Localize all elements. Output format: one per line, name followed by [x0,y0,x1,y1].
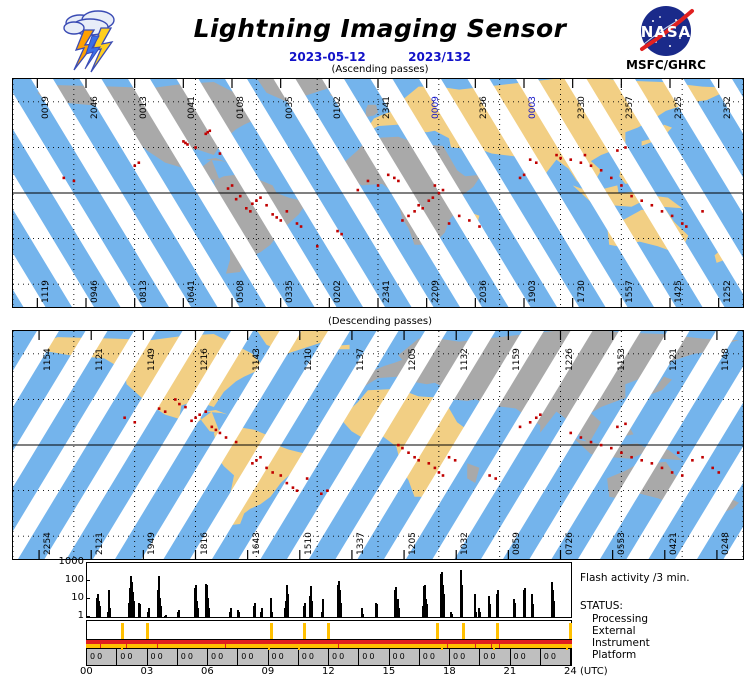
platform-segment: 00 [87,649,117,665]
asc-orbit-bottom-label-9: 2036 [479,280,489,303]
desc-orbit-top-label-3: 1216 [200,348,210,371]
desc-orbit-bottom-label-3: 1816 [200,532,210,555]
asc-orbit-top-label-1: 2046 [90,96,100,119]
flash-bar [178,610,180,617]
desc-orbit-bottom-label-8: 1032 [460,532,470,555]
status-platform-tick [298,645,300,650]
flash-activity-chart[interactable] [86,562,572,618]
asc-orbit-bottom-label-14: 1252 [723,280,733,303]
desc-orbit-bottom-label-1: 2121 [95,532,105,555]
status-processing-tick [146,623,149,639]
asc-orbit-bottom-label-6: 0202 [333,280,343,303]
time-axis-label-24: 24 [564,666,577,677]
status-processing-row [86,620,572,640]
ascending-caption: (Ascending passes) [170,64,590,75]
asc-orbit-top-label-7: 2341 [382,96,392,119]
flash-chart-ytick-10: 10 [44,592,84,603]
status-platform-tick [441,645,443,650]
flash-bar [443,594,445,617]
chart-legend: Flash activity /3 min. STATUS: Processin… [578,562,756,674]
desc-orbit-bottom-label-0: 2254 [43,532,53,555]
platform-segment: 00 [329,649,359,665]
time-axis-label-09: 09 [262,666,275,677]
desc-orbit-top-label-10: 1226 [565,348,575,371]
flash-bar [553,601,555,617]
platform-segment: 00 [359,649,389,665]
flash-bar [497,590,499,617]
platform-segment: 00 [511,649,541,665]
platform-segment: 00 [450,649,480,665]
flash-bar [133,601,135,617]
platform-segment: 00 [238,649,268,665]
asc-orbit-top-label-11: 2330 [577,96,587,119]
activity-panel: 1000100101 00000000000000000000000000000… [0,562,756,680]
flash-chart-ytick-1000: 1000 [44,556,84,567]
flash-bar [362,614,364,617]
status-processing-tick [462,623,465,639]
legend-item-processing: Processing [580,613,648,625]
status-platform-tick [566,645,568,650]
status-processing-tick [496,623,499,639]
platform-segment: 00 [117,649,147,665]
flash-bar [524,588,526,617]
desc-orbit-top-label-7: 1205 [408,348,418,371]
time-axis: 000306091215182124(UTC) [60,666,600,680]
flash-bar [261,608,263,617]
flash-chart-y-axis: 1000100101 [40,562,84,618]
legend-item-instrument: Instrument [580,637,650,649]
legend-status-title: STATUS: [580,600,623,612]
flash-bar [479,612,481,617]
flash-bar [238,612,240,617]
status-platform-tick [268,645,270,650]
status-processing-tick [121,623,124,639]
time-axis-label-18: 18 [443,666,456,677]
flash-bar [451,614,453,617]
page-title: Lightning Imaging Sensor [170,14,590,43]
flash-bar [475,612,477,617]
desc-orbit-top-label-0: 1154 [43,348,53,371]
desc-orbit-bottom-label-9: 0859 [512,532,522,555]
asc-orbit-top-label-8: 0009 [431,96,441,119]
status-platform-segments: 00000000000000000000000000000000 [86,648,572,666]
flash-bar [304,603,306,617]
descending-caption: (Descending passes) [170,316,590,327]
desc-orbit-bottom-label-2: 1949 [147,532,157,555]
desc-orbit-top-label-4: 1143 [252,348,262,371]
asc-orbit-bottom-label-7: 2341 [382,280,392,303]
asc-orbit-top-label-4: 0108 [236,96,246,119]
flash-bar [322,599,324,617]
desc-orbit-top-label-6: 1137 [356,348,366,371]
desc-orbit-bottom-label-6: 1337 [356,532,366,555]
flash-bar [148,608,150,617]
flash-bar [514,603,516,617]
desc-orbit-top-label-13: 1148 [721,348,731,371]
time-axis-label-03: 03 [141,666,154,677]
time-axis-label-15: 15 [383,666,396,677]
platform-segment: 00 [178,649,208,665]
flash-bar [254,603,256,617]
desc-orbit-top-label-1: 1121 [95,348,105,371]
desc-orbit-bottom-label-12: 0421 [669,532,679,555]
platform-segment: 00 [420,649,450,665]
status-processing-tick [569,623,572,639]
asc-orbit-top-label-5: 0035 [285,96,295,119]
desc-orbit-bottom-label-4: 1643 [252,532,262,555]
desc-orbit-bottom-label-7: 1205 [408,532,418,555]
asc-orbit-top-label-3: 0041 [187,96,197,119]
descending-passes-map[interactable]: 1154112111491216114312101137120511321159… [12,330,744,560]
flash-bar [489,604,491,617]
platform-segment: 00 [208,649,238,665]
status-platform-tick [493,645,495,650]
flash-bar [426,604,428,617]
legend-item-platform: Platform [580,649,636,661]
asc-orbit-bottom-label-3: 0641 [187,280,197,303]
status-processing-tick [303,623,306,639]
desc-orbit-bottom-label-10: 0726 [565,532,575,555]
desc-orbit-bottom-label-5: 1510 [304,532,314,555]
svg-text:NASA: NASA [641,23,692,41]
flash-bar [287,594,289,617]
time-axis-label-00: 00 [80,666,93,677]
status-processing-tick [270,623,273,639]
asc-orbit-bottom-label-11: 1730 [577,280,587,303]
asc-orbit-bottom-label-13: 1425 [674,280,684,303]
flash-bar [532,604,534,617]
flash-bar [271,612,273,617]
flash-bar [208,608,210,617]
flash-bar [197,608,199,617]
desc-orbit-bottom-label-11: 0553 [617,532,627,555]
status-processing-tick [436,623,439,639]
asc-orbit-top-label-10: 0003 [528,96,538,119]
agency-label: MSFC/GHRC [600,58,732,72]
flash-bar [109,608,111,617]
platform-segment: 00 [390,649,420,665]
page-header: Lightning Imaging Sensor 2023-05-12 2023… [0,0,756,76]
flash-bar [461,585,463,617]
asc-orbit-bottom-label-10: 1903 [528,280,538,303]
asc-orbit-top-label-2: 0013 [139,96,149,119]
desc-orbit-top-label-12: 1221 [669,348,679,371]
desc-orbit-top-label-2: 1149 [147,348,157,371]
platform-segment: 00 [541,649,571,665]
desc-orbit-top-label-8: 1132 [460,348,470,371]
asc-orbit-top-label-12: 2357 [625,96,635,119]
desc-orbit-top-label-9: 1159 [512,348,522,371]
flash-bar [398,608,400,617]
day-of-year: 2023/132 [408,50,471,64]
flash-bar [230,608,232,617]
descending-map-canvas [13,331,743,559]
asc-orbit-top-label-14: 2352 [723,96,733,119]
flash-chart-ytick-mark [86,598,90,599]
flash-bar [376,604,378,617]
platform-segment: 00 [480,649,510,665]
date-bar: 2023-05-12 2023/132 [170,50,590,64]
asc-orbit-top-label-13: 2325 [674,96,684,119]
asc-orbit-bottom-label-8: 2209 [431,280,441,303]
legend-flash-activity: Flash activity /3 min. [580,572,690,584]
time-axis-label-06: 06 [201,666,214,677]
asc-orbit-top-label-6: 0102 [333,96,343,119]
observation-date: 2023-05-12 [289,50,366,64]
asc-orbit-bottom-label-4: 0508 [236,280,246,303]
desc-orbit-bottom-label-13: 0248 [721,532,731,555]
flash-bar [340,603,342,617]
ascending-passes-map[interactable]: 0019204600130041010800350102234100092336… [12,78,744,308]
platform-segment: 00 [148,649,178,665]
time-axis-label-21: 21 [504,666,517,677]
flash-bar [311,601,313,617]
desc-orbit-top-label-11: 1153 [617,348,627,371]
asc-orbit-bottom-label-1: 0946 [90,280,100,303]
asc-orbit-bottom-label-0: 1119 [41,280,51,303]
flash-chart-ytick-mark [86,562,90,563]
flash-chart-ytick-1: 1 [44,610,84,621]
flash-bar [99,606,101,617]
flash-chart-ytick-100: 100 [44,574,84,585]
asc-orbit-top-label-9: 2336 [479,96,489,119]
flash-bar [160,606,162,617]
status-platform-tick [121,645,123,650]
asc-orbit-bottom-label-12: 1557 [625,280,635,303]
status-processing-tick [327,623,330,639]
asc-orbit-bottom-label-2: 0813 [139,280,149,303]
flash-bar [139,604,141,617]
time-axis-label-12: 12 [322,666,335,677]
nasa-meatball-logo-icon: NASA [620,4,712,58]
asc-orbit-bottom-label-5: 0335 [285,280,295,303]
flash-chart-ytick-mark [86,580,90,581]
platform-segment: 00 [299,649,329,665]
flash-bar [165,615,167,617]
legend-item-external: External [580,625,636,637]
desc-orbit-top-label-5: 1210 [304,348,314,371]
thunderstorm-icon [54,6,128,76]
flash-chart-ytick-mark [86,616,90,617]
asc-orbit-top-label-0: 0019 [41,96,51,119]
platform-segment: 00 [269,649,299,665]
